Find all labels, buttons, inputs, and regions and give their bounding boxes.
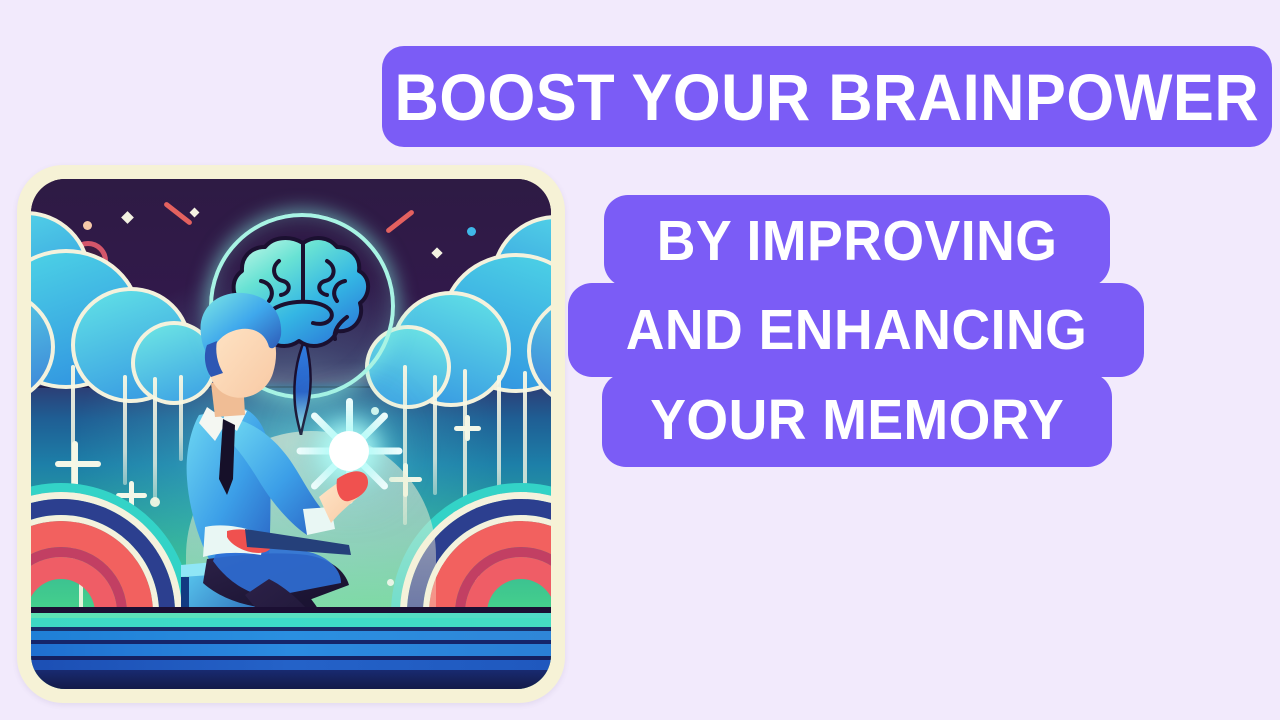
- headline-banner: BOOST YOUR BRAINPOWER: [382, 46, 1272, 147]
- stripe: [31, 670, 551, 689]
- bottom-stripes: [31, 613, 551, 689]
- stripe: [31, 631, 551, 640]
- stripe: [31, 618, 551, 627]
- stripe: [31, 644, 551, 656]
- headline-text: BOOST YOUR BRAINPOWER: [395, 64, 1260, 130]
- subheadline-line-3: YOUR MEMORY: [602, 373, 1112, 467]
- subheadline-line-1: BY IMPROVING: [604, 195, 1110, 287]
- subheadline-line-2: AND ENHANCING: [568, 283, 1144, 377]
- poster-canvas: BOOST YOUR BRAINPOWER BY IMPROVING AND E…: [0, 0, 1280, 720]
- subheadline-text-3: YOUR MEMORY: [650, 392, 1064, 449]
- subheadline-text-2: AND ENHANCING: [625, 302, 1087, 359]
- subheadline-block: BY IMPROVING AND ENHANCING YOUR MEMORY: [566, 195, 1146, 467]
- subheadline-text-1: BY IMPROVING: [657, 213, 1058, 270]
- stripe: [31, 660, 551, 670]
- illustration-canvas: [31, 179, 551, 689]
- illustration-card: [17, 165, 565, 703]
